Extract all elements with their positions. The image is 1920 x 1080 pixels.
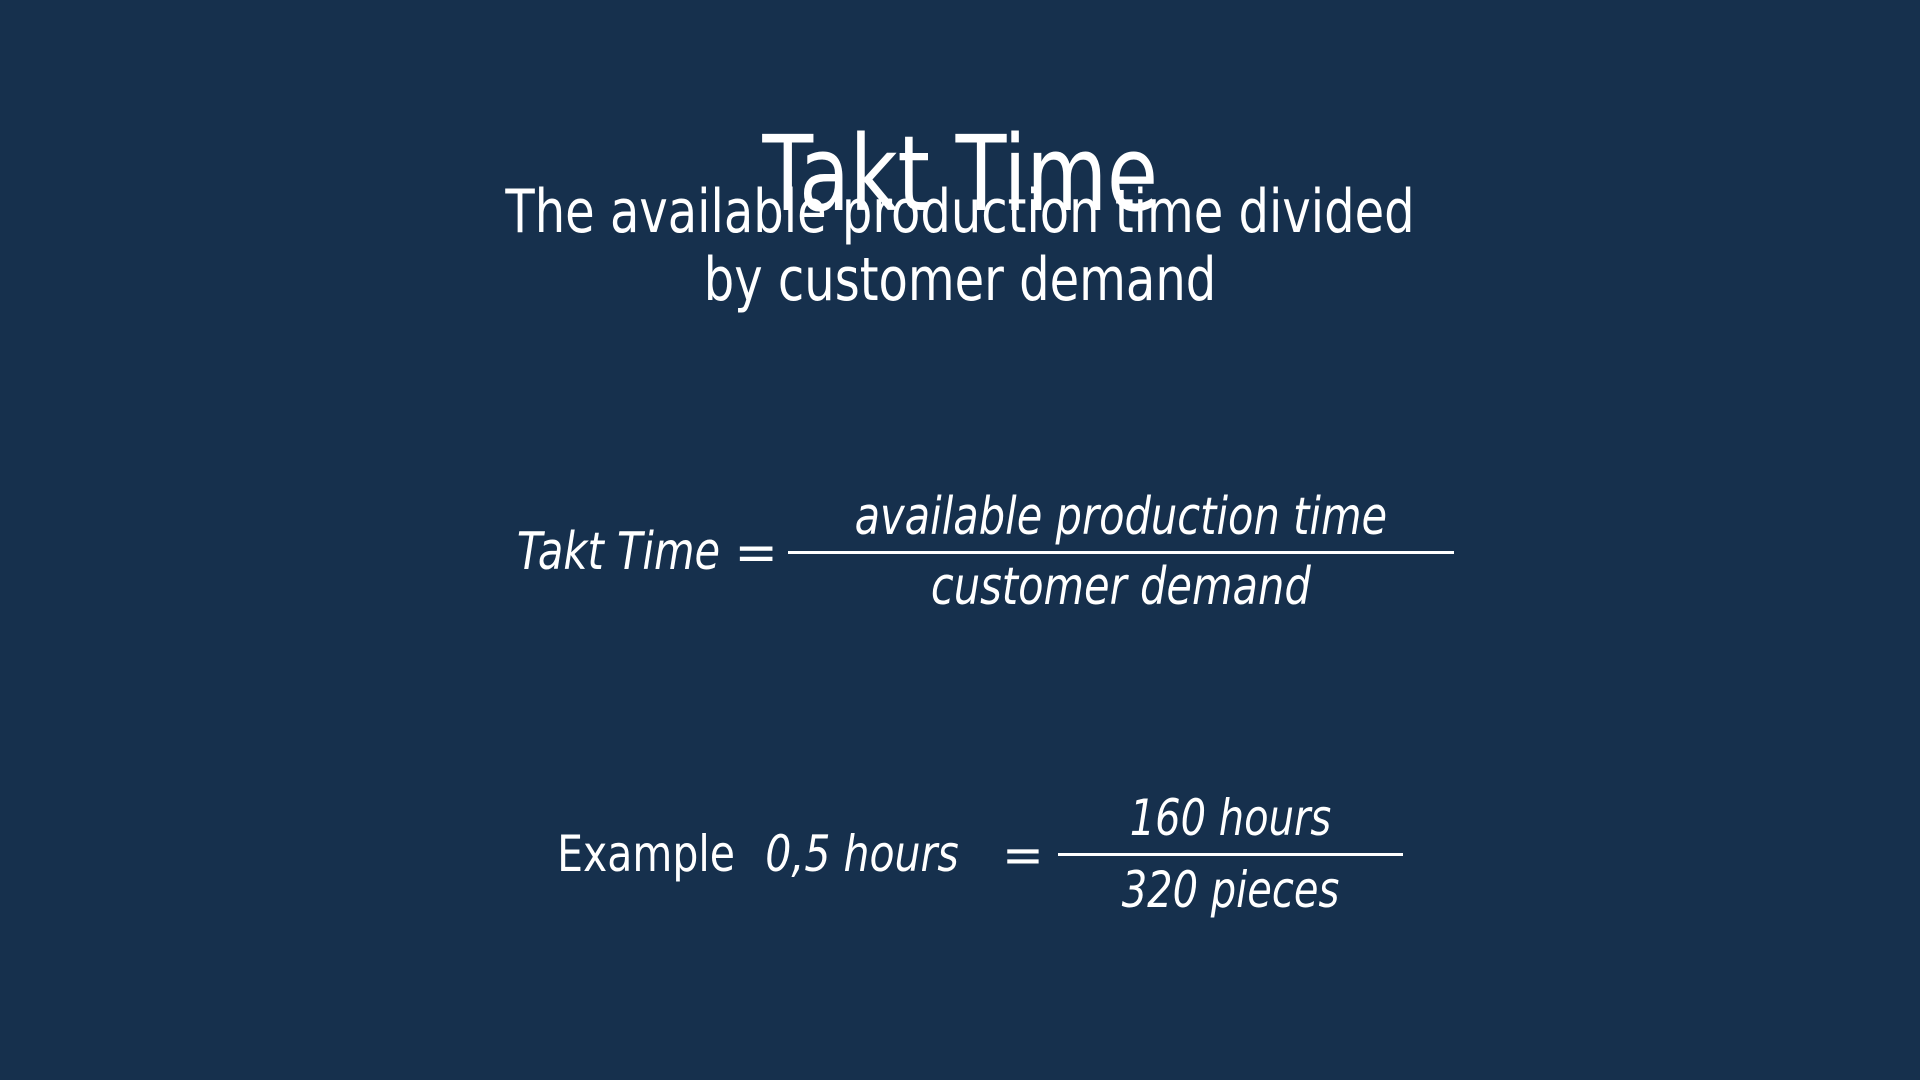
subtitle-line-2: by customer demand [192, 246, 1728, 314]
formula-fraction: available production time customer deman… [788, 488, 1454, 618]
takt-time-formula: Takt Time = available production time cu… [0, 488, 1920, 618]
takt-time-slide: Takt Time The available production time … [0, 0, 1920, 1080]
example-equals-sign: = [984, 826, 1058, 884]
formula-equals-sign: = [720, 523, 788, 583]
example-fraction: 160 hours 320 pieces [1058, 790, 1403, 919]
example-numerator: 160 hours [1092, 790, 1368, 853]
example-formula: Example 0,5 hours = 160 hours 320 pieces [0, 790, 1920, 919]
example-denominator: 320 pieces [1092, 856, 1368, 919]
example-label: Example [557, 827, 740, 882]
example-result-value: 0,5 hours [762, 827, 962, 882]
formula-denominator: customer demand [855, 554, 1388, 617]
formula-numerator: available production time [855, 488, 1388, 551]
formula-left-label: Takt Time [517, 524, 720, 581]
subtitle-line-1: The available production time divided [192, 178, 1728, 246]
slide-subtitle: The available production time divided by… [192, 178, 1728, 315]
